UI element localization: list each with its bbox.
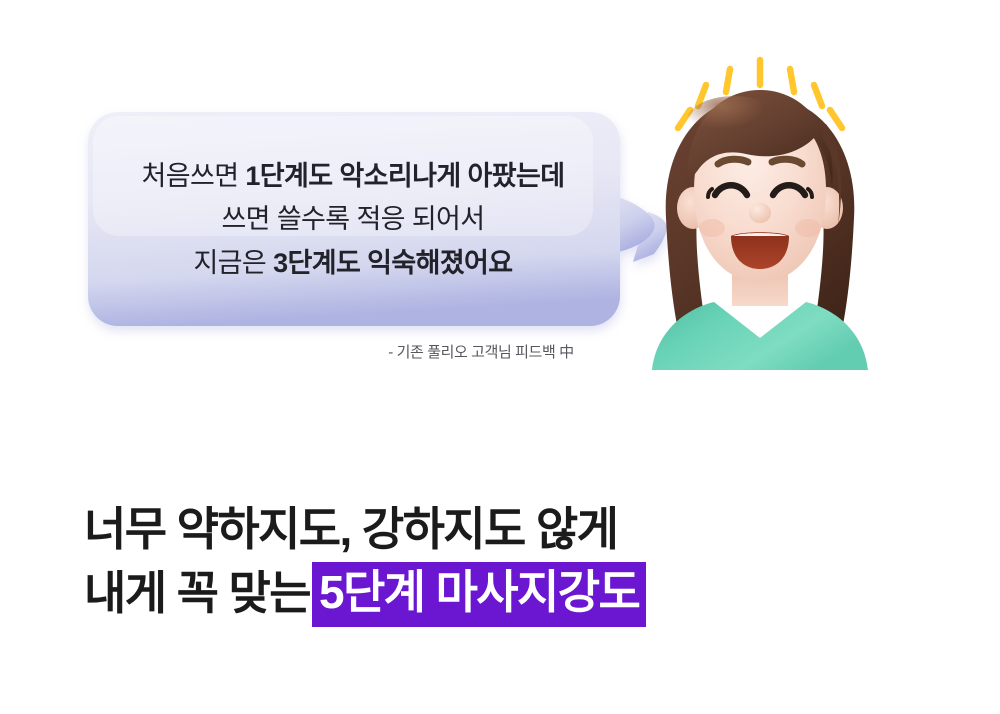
headline-block: 너무 약하지도, 강하지도 않게 내게 꼭 맞는 5단계 마사지강도 [84,500,914,627]
testimonial-speech-bubble: 처음쓰면 1단계도 악소리나게 아팠는데 쓰면 쓸수록 적응 되어서 지금은 3… [88,112,656,328]
testimonial-line-2-light: 쓰면 쓸수록 적응 되어서 [221,204,484,234]
promo-banner: 처음쓰면 1단계도 악소리나게 아팠는데 쓰면 쓸수록 적응 되어서 지금은 3… [0,0,1000,714]
testimonial-line-1: 처음쓰면 1단계도 악소리나게 아팠는데 [142,159,565,195]
cheek-right [795,219,821,237]
headline-line-2-plain: 내게 꼭 맞는 [84,564,310,624]
headline-line-2: 내게 꼭 맞는 5단계 마사지강도 [84,562,914,627]
testimonial-text: 처음쓰면 1단계도 악소리나게 아팠는데 쓰면 쓸수록 적응 되어서 지금은 3… [88,112,618,328]
nose [749,203,771,223]
testimonial-line-1-light: 처음쓰면 [142,161,246,191]
testimonial-line-3-bold: 3단계도 익숙해졌어요 [273,248,512,278]
testimonial-line-3: 지금은 3단계도 익숙해졌어요 [193,246,512,282]
headline-line-1: 너무 약하지도, 강하지도 않게 [84,500,914,560]
testimonial-attribution: - 기존 풀리오 고객님 피드백 中 [356,341,606,362]
testimonial-line-1-bold: 1단계도 악소리나게 아팠는데 [245,161,564,191]
cheek-left [699,219,725,237]
headline-highlight: 5단계 마사지강도 [312,562,646,627]
testimonial-line-2: 쓰면 쓸수록 적응 되어서 [221,202,484,238]
hair-highlight [686,96,782,148]
customer-avatar-illustration [636,38,900,370]
testimonial-line-3-light: 지금은 [193,248,273,278]
